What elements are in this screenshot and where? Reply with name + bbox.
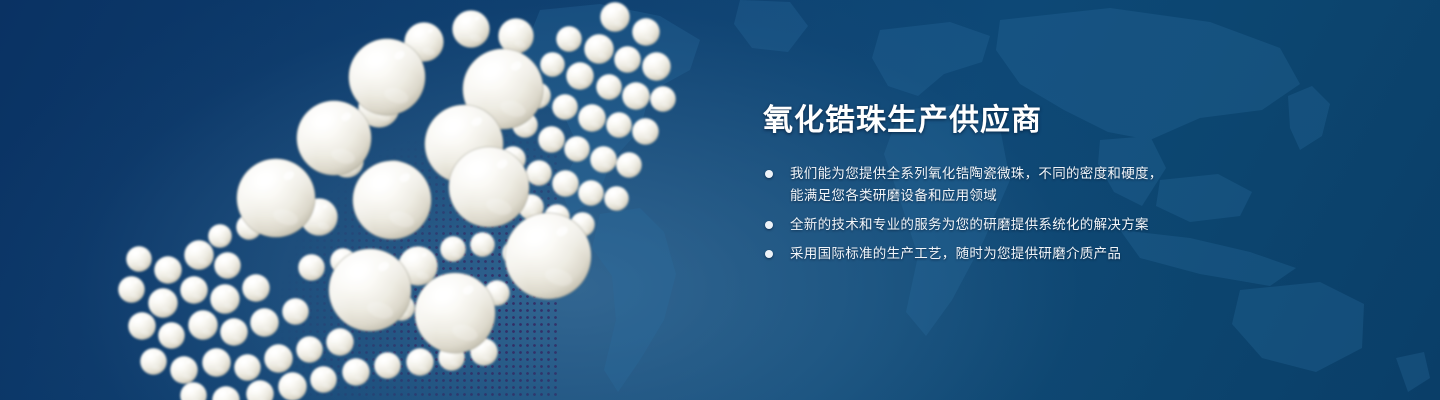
list-item-line: 能满足您各类研磨设备和应用领域 <box>790 185 1283 207</box>
list-item-line: 全新的技术和专业的服务为您的研磨提供系统化的解决方案 <box>790 214 1283 236</box>
list-item-line: 采用国际标准的生产工艺，随时为您提供研磨介质产品 <box>790 243 1283 265</box>
bullet-dot-icon <box>765 221 773 229</box>
bullet-dot-icon <box>765 250 773 258</box>
hero-banner: 氧化锆珠生产供应商 我们能为您提供全系列氧化锆陶瓷微珠，不同的密度和硬度， 能满… <box>0 0 1440 400</box>
bullet-dot-icon <box>765 170 773 178</box>
page-title: 氧化锆珠生产供应商 <box>763 104 1283 137</box>
list-item: 全新的技术和专业的服务为您的研磨提供系统化的解决方案 <box>763 214 1283 236</box>
feature-list: 我们能为您提供全系列氧化锆陶瓷微珠，不同的密度和硬度， 能满足您各类研磨设备和应… <box>763 163 1283 265</box>
list-item-line: 我们能为您提供全系列氧化锆陶瓷微珠，不同的密度和硬度， <box>790 163 1283 185</box>
banner-copy: 氧化锆珠生产供应商 我们能为您提供全系列氧化锆陶瓷微珠，不同的密度和硬度， 能满… <box>763 104 1283 265</box>
list-item: 采用国际标准的生产工艺，随时为您提供研磨介质产品 <box>763 243 1283 265</box>
list-item: 我们能为您提供全系列氧化锆陶瓷微珠，不同的密度和硬度， 能满足您各类研磨设备和应… <box>763 163 1283 207</box>
zirconia-beads-image <box>0 0 760 400</box>
halftone-texture <box>90 20 560 400</box>
